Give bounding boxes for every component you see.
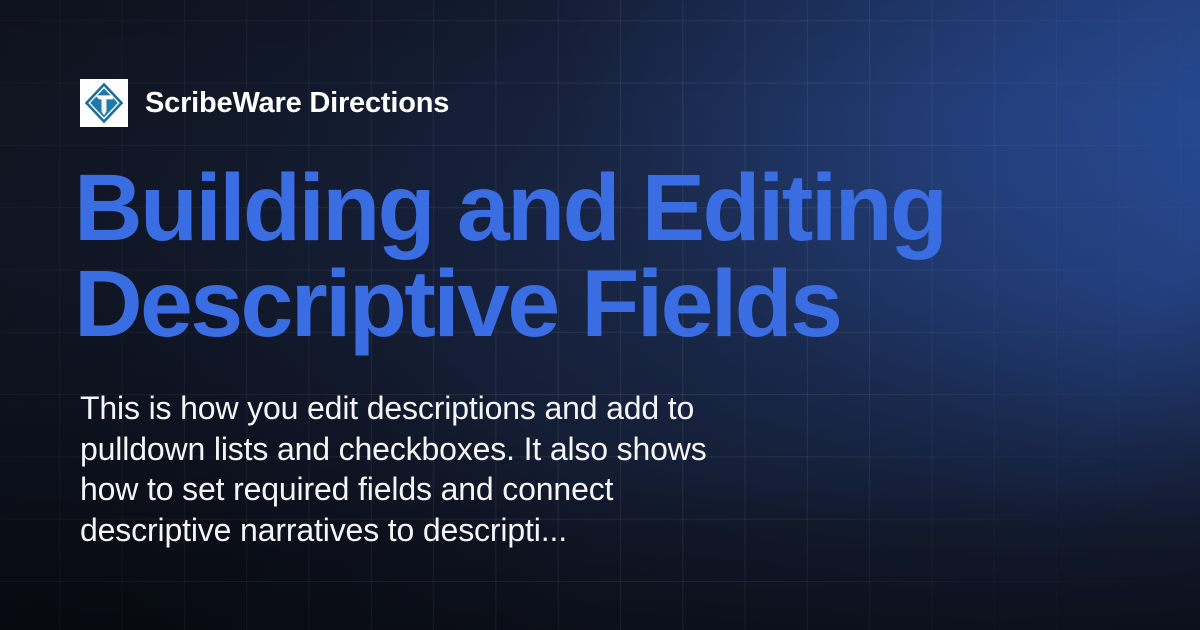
scribeware-logo-icon [80,79,128,127]
og-card: ScribeWare Directions Building and Editi… [0,0,1200,630]
page-description: This is how you edit descriptions and ad… [80,388,820,550]
page-title: Building and Editing Descriptive Fields [74,160,954,352]
brand-name: ScribeWare Directions [145,89,449,118]
card-content: ScribeWare Directions Building and Editi… [80,0,1120,630]
brand-header: ScribeWare Directions [80,79,449,127]
